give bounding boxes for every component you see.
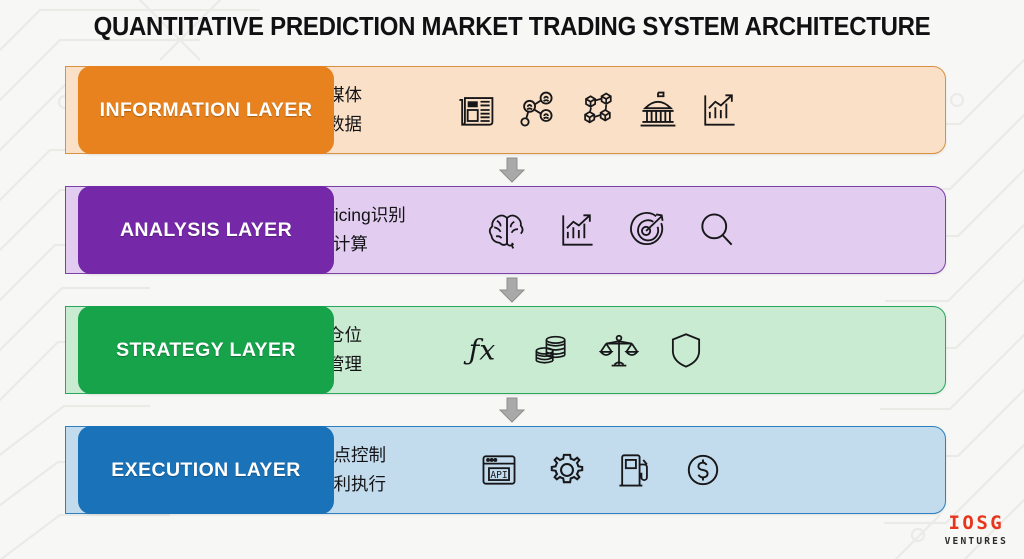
- brain-icon: [485, 208, 529, 252]
- page-title: QUANTITATIVE PREDICTION MARKET TRADING S…: [31, 13, 994, 42]
- layer-row-information[interactable]: •实时新闻 •链上数据源 •社交媒体 •市场数据: [78, 66, 946, 154]
- icon-group-execution: API: [471, 448, 945, 492]
- coin-stack-icon: [529, 328, 573, 372]
- shield-icon: [665, 328, 707, 372]
- down-arrow-icon: [498, 157, 526, 183]
- api-label: API: [490, 470, 507, 481]
- growth-chart-icon: [697, 88, 741, 132]
- gas-pump-icon: [613, 448, 657, 492]
- down-arrow-icon: [498, 277, 526, 303]
- fx-label: ƒx: [463, 334, 495, 367]
- brand-logo: IOSG VENTURES: [945, 514, 1008, 548]
- layer-label-information[interactable]: INFORMATION LAYER: [78, 66, 334, 154]
- blockchain-icon: [575, 88, 619, 132]
- magnifier-icon: [695, 208, 739, 252]
- balance-scale-icon: [597, 328, 641, 372]
- layer-label-analysis[interactable]: ANALYSIS LAYER: [78, 186, 334, 274]
- icon-group-strategy: ƒx: [447, 328, 945, 372]
- architecture-stack: •实时新闻 •链上数据源 •社交媒体 •市场数据: [78, 66, 946, 514]
- connector-3: [78, 394, 946, 426]
- icon-group-analysis: [471, 208, 945, 252]
- icon-group-information: [447, 88, 945, 132]
- logo-subtitle: VENTURES: [945, 535, 1008, 548]
- layer-row-analysis[interactable]: •LLM语义分析 •ML概率估计 •Mispricing识别 •Edge计算: [78, 186, 946, 274]
- social-network-icon: [514, 88, 558, 132]
- institution-icon: [636, 88, 680, 132]
- newspaper-icon: [453, 88, 497, 132]
- logo-mark: IOSG: [945, 514, 1008, 533]
- layer-row-strategy[interactable]: •Kelly Criterion •分批建仓 •动态仓位 •风险管理 ƒx: [78, 306, 946, 394]
- layer-row-execution[interactable]: •多市场API集成 •Gas优化 •滑点控制 •套利执行 API: [78, 426, 946, 514]
- connector-2: [78, 274, 946, 306]
- layer-label-execution[interactable]: EXECUTION LAYER: [78, 426, 334, 514]
- layer-label-strategy[interactable]: STRATEGY LAYER: [78, 306, 334, 394]
- fx-function-icon: ƒx: [459, 328, 505, 372]
- dollar-coin-icon: [681, 448, 725, 492]
- api-window-icon: API: [477, 449, 521, 491]
- bar-chart-icon: [555, 208, 599, 252]
- gear-icon: [545, 448, 589, 492]
- down-arrow-icon: [498, 397, 526, 423]
- target-icon: [625, 208, 669, 252]
- connector-1: [78, 154, 946, 186]
